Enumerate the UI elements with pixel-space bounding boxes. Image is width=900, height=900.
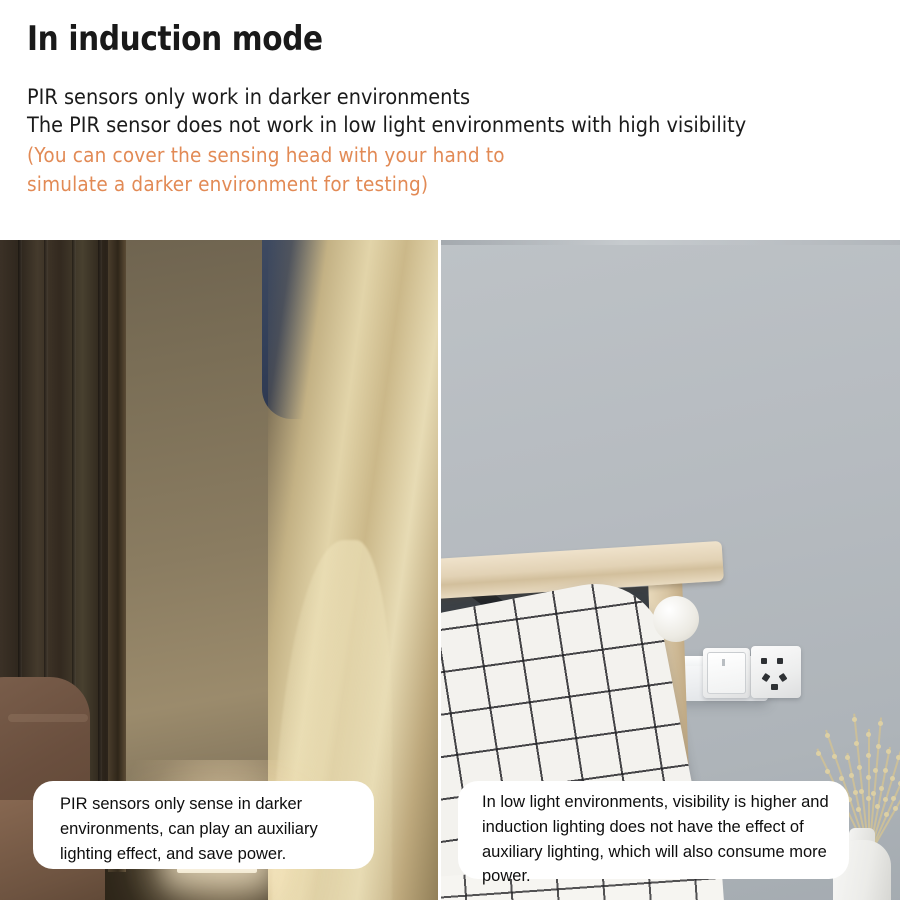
outlet-hole-icon	[771, 684, 778, 690]
flower-bud	[878, 721, 883, 726]
subtitle-line-2: The PIR sensor does not work in low ligh…	[27, 112, 813, 141]
flower-bud	[839, 776, 844, 781]
flower-bud	[866, 732, 871, 737]
flower-bud	[884, 812, 889, 817]
flower-bud	[876, 744, 881, 749]
flower-bud	[866, 775, 871, 780]
wall-light-switch[interactable]	[703, 648, 750, 698]
flower-bud	[873, 768, 878, 773]
subtitle-line-1: PIR sensors only work in darker environm…	[27, 84, 813, 113]
flower-bud	[893, 806, 898, 811]
flower-bud	[852, 717, 857, 722]
flower-bud	[866, 753, 871, 758]
flower-bud	[854, 741, 859, 746]
flower-bud	[896, 755, 900, 760]
flower-bud	[849, 773, 854, 778]
header-text-block: In induction mode PIR sensors only work …	[0, 0, 900, 240]
outlet-hole-icon	[777, 658, 783, 664]
wall-power-outlet[interactable]	[751, 646, 801, 698]
note-line-2: simulate a darker environment for testin…	[27, 170, 813, 199]
switch-indicator-dot	[722, 659, 725, 666]
caption-box-left: PIR sensors only sense in darker environ…	[33, 781, 374, 869]
subtitle-group: PIR sensors only work in darker environm…	[27, 84, 900, 199]
flower-bud	[875, 804, 880, 809]
left-sofa-seam	[8, 714, 88, 722]
caption-box-right: In low light environments, visibility is…	[458, 781, 849, 879]
flower-bud	[891, 796, 896, 801]
flower-bud	[879, 786, 884, 791]
right-pillow-pompom	[653, 596, 699, 642]
note-line-1: (You can cover the sensing head with you…	[27, 141, 813, 170]
flower-bud	[857, 765, 862, 770]
left-door-jamb	[108, 240, 126, 872]
page-title: In induction mode	[27, 22, 787, 58]
flower-bud	[856, 807, 861, 812]
outlet-hole-icon	[761, 658, 767, 664]
flower-bud	[845, 755, 850, 760]
flower-bud	[883, 797, 888, 802]
flower-bud	[825, 733, 830, 738]
right-ceiling-line	[441, 240, 900, 245]
flower-bud	[853, 790, 858, 795]
flower-bud	[890, 776, 895, 781]
flower-bud	[859, 789, 864, 794]
flower-bud	[886, 749, 891, 754]
flower-bud	[871, 791, 876, 796]
flower-bud	[866, 796, 871, 801]
flower-bud	[883, 768, 888, 773]
